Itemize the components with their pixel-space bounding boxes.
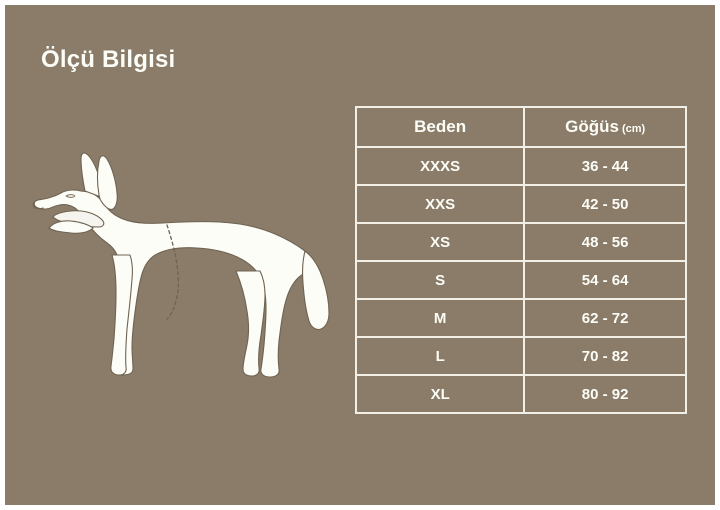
table-body: XXXS 36 - 44 XXS 42 - 50 XS 48 - 56 S 54… — [356, 147, 686, 413]
table-row: XXXS 36 - 44 — [356, 147, 686, 185]
header-label-chest: Göğüs — [565, 117, 619, 136]
dog-side-view-graphic — [19, 133, 349, 423]
table-row: XL 80 - 92 — [356, 375, 686, 413]
dog-illustration — [19, 133, 349, 423]
table-header-row: Beden Göğüs(cm) — [356, 107, 686, 147]
header-unit-chest: (cm) — [622, 123, 645, 135]
table-row: XS 48 - 56 — [356, 223, 686, 261]
cell-size: M — [356, 299, 524, 337]
cell-size: XL — [356, 375, 524, 413]
table-row: M 62 - 72 — [356, 299, 686, 337]
cell-chest: 62 - 72 — [524, 299, 686, 337]
cell-chest: 80 - 92 — [524, 375, 686, 413]
cell-size: XXXS — [356, 147, 524, 185]
size-table: Beden Göğüs(cm) XXXS 36 - 44 XXS 42 - 50 — [355, 106, 687, 414]
cell-chest: 42 - 50 — [524, 185, 686, 223]
cell-size: XXS — [356, 185, 524, 223]
chart-canvas: Ölçü Bilgisi — [5, 5, 715, 505]
table-row: S 54 - 64 — [356, 261, 686, 299]
cell-size: XS — [356, 223, 524, 261]
header-cell-size: Beden — [356, 107, 524, 147]
table-row: L 70 - 82 — [356, 337, 686, 375]
cell-size: L — [356, 337, 524, 375]
cell-chest: 36 - 44 — [524, 147, 686, 185]
cell-chest: 48 - 56 — [524, 223, 686, 261]
header-cell-chest: Göğüs(cm) — [524, 107, 686, 147]
table-row: XXS 42 - 50 — [356, 185, 686, 223]
cell-chest: 54 - 64 — [524, 261, 686, 299]
header-label-size: Beden — [414, 117, 466, 136]
cell-size: S — [356, 261, 524, 299]
dog-rear-leg-far — [236, 271, 265, 376]
dog-tail — [303, 251, 329, 330]
page-title: Ölçü Bilgisi — [41, 46, 175, 74]
cell-chest: 70 - 82 — [524, 337, 686, 375]
size-chart-page: Ölçü Bilgisi — [0, 0, 720, 510]
dog-eye — [66, 195, 75, 198]
